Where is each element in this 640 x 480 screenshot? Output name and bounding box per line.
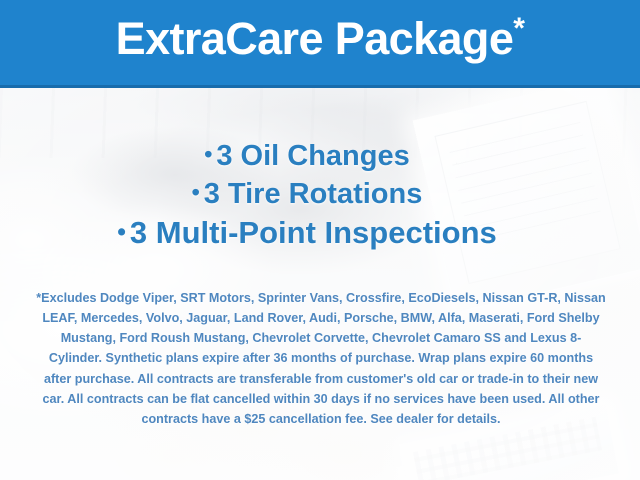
page-title-asterisk: * xyxy=(513,12,524,45)
benefits-list: •3 Oil Changes •3 Tire Rotations •3 Mult… xyxy=(0,138,614,254)
benefit-label: 3 Oil Changes xyxy=(216,140,409,172)
extracare-package-ad: ExtraCare Package* •3 Oil Changes •3 Tir… xyxy=(0,0,640,480)
list-item: •3 Tire Rotations xyxy=(0,176,614,214)
benefit-label: 3 Multi-Point Inspections xyxy=(130,215,497,250)
header-band: ExtraCare Package* xyxy=(0,0,640,88)
list-item: •3 Multi-Point Inspections xyxy=(0,213,614,253)
disclaimer-text: *Excludes Dodge Viper, SRT Motors, Sprin… xyxy=(36,288,606,429)
bullet-dot-icon: • xyxy=(192,179,204,205)
page-title: ExtraCare Package* xyxy=(0,12,640,65)
list-item: •3 Oil Changes xyxy=(0,138,614,176)
bullet-dot-icon: • xyxy=(204,141,216,167)
page-title-text: ExtraCare Package xyxy=(116,13,514,64)
benefit-label: 3 Tire Rotations xyxy=(204,178,423,210)
bullet-dot-icon: • xyxy=(117,219,130,246)
